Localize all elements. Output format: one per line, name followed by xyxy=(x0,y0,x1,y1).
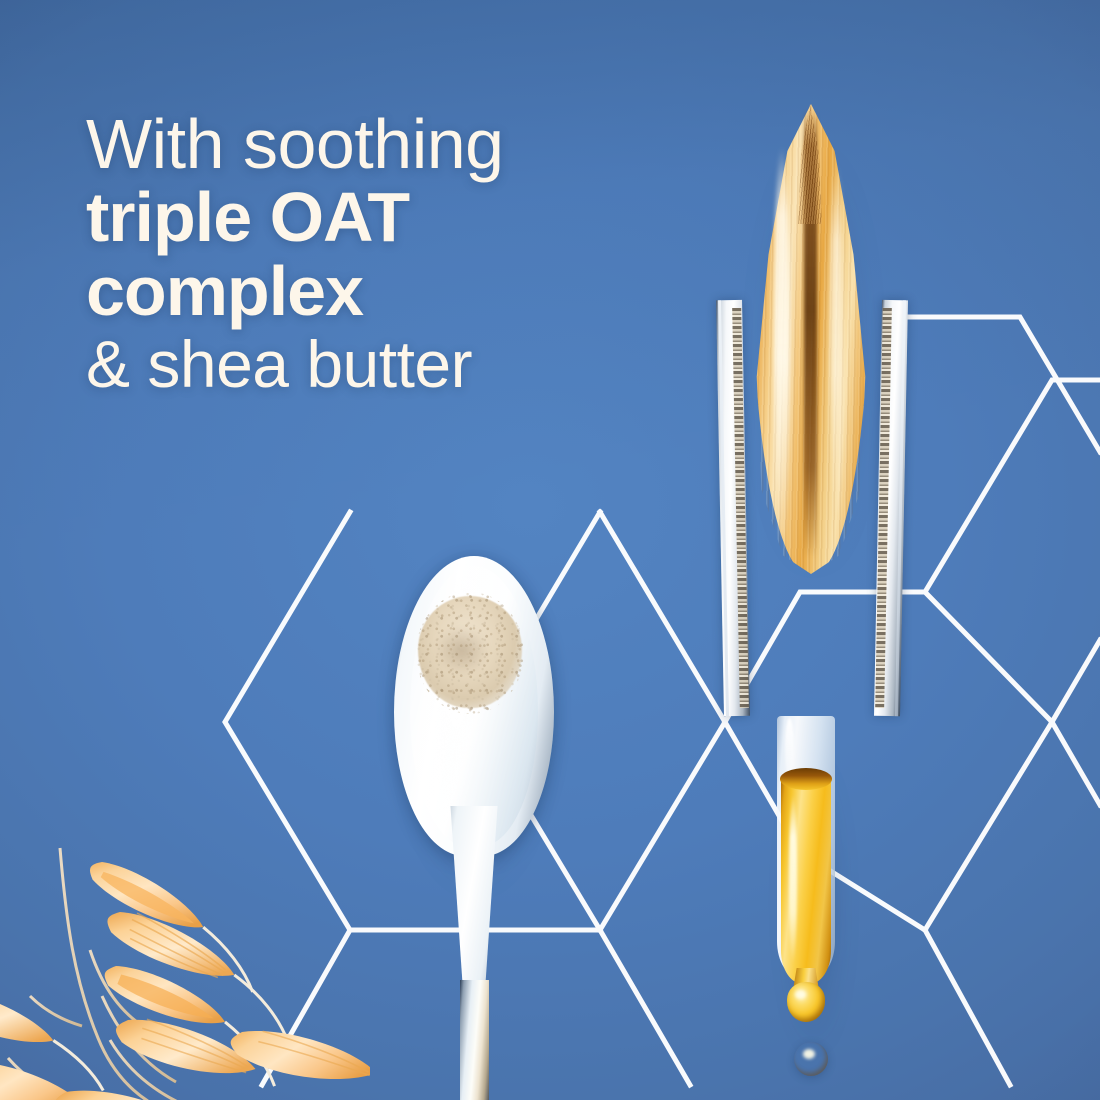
headline-line-3: complex xyxy=(86,257,706,326)
headline-line-2: triple OAT xyxy=(86,183,706,252)
spoon-with-oat-powder xyxy=(386,556,562,1100)
oil-dropper-pipette xyxy=(777,716,835,1036)
product-marketing-banner: With soothing triple OAT complex & shea … xyxy=(0,0,1100,1100)
headline-line-1: With soothing xyxy=(86,110,706,179)
falling-oil-droplet-highlight xyxy=(803,1049,815,1059)
oat-grain xyxy=(752,104,870,574)
pipette-tip-drop-highlight xyxy=(795,990,806,999)
pipette-oil-highlight xyxy=(789,794,797,964)
falling-oil-droplet xyxy=(794,1042,828,1076)
pipette-oil-meniscus xyxy=(780,768,832,790)
spoon-handle xyxy=(460,980,489,1100)
pipette-tip-oil-drop xyxy=(787,982,825,1022)
headline-line-4: & shea butter xyxy=(86,332,706,397)
oat-powder-texture xyxy=(416,592,524,714)
oat-grain-highlight-right xyxy=(830,164,843,514)
page-title: With soothing triple OAT complex & shea … xyxy=(86,110,706,397)
oat-sprigs-illustration xyxy=(0,800,370,1100)
oat-grain-highlight-left xyxy=(774,146,790,536)
